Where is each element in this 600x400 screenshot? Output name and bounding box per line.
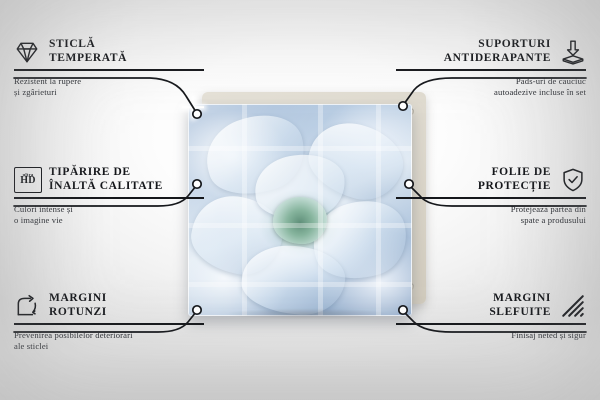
vignette-overlay [0, 0, 600, 400]
infographic-canvas: STICLĂ TEMPERATĂ Rezistent la rupere și … [0, 0, 600, 400]
